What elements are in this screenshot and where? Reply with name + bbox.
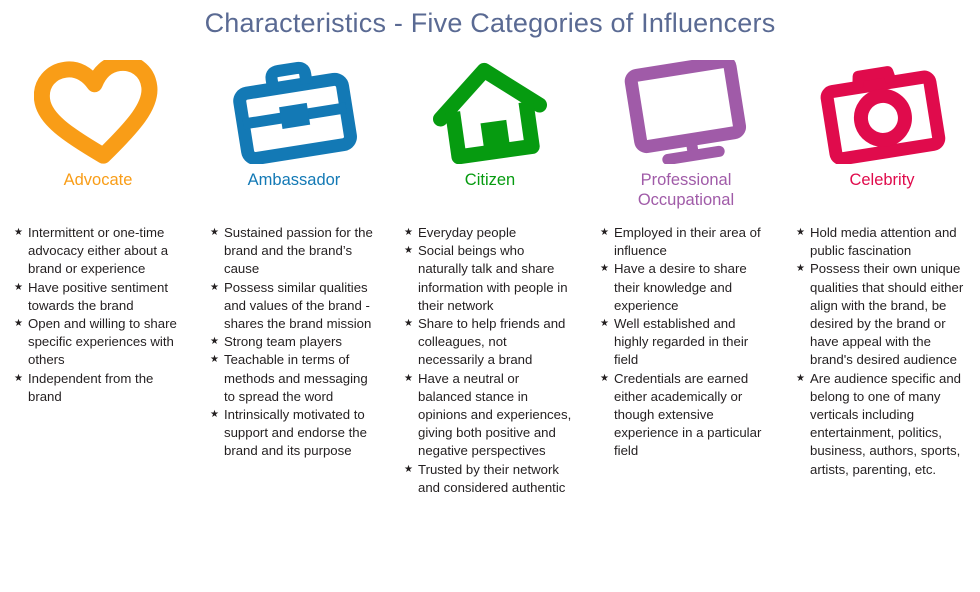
star-bullet-icon: ★ [600, 370, 609, 388]
list-item: ★Strong team players [210, 333, 378, 351]
list-item-text: Have a neutral or balanced stance in opi… [418, 371, 571, 459]
list-item: ★Possess similar qualities and values of… [210, 279, 378, 334]
category-label-line1: Celebrity [849, 171, 914, 189]
list-item-text: Well established and highly regarded in … [614, 316, 748, 367]
bullet-list-professional-occupational: ★Employed in their area of influence ★Ha… [600, 224, 768, 461]
list-item: ★Sustained passion for the brand and the… [210, 224, 378, 279]
house-icon [415, 58, 565, 166]
list-item-text: Independent from the brand [28, 371, 153, 404]
list-item-text: Share to help friends and colleagues, no… [418, 316, 565, 367]
list-item: ★Possess their own unique qualities that… [796, 260, 964, 369]
list-item: ★Intermittent or one-time advocacy eithe… [14, 224, 182, 279]
star-bullet-icon: ★ [404, 370, 413, 388]
star-bullet-icon: ★ [404, 242, 413, 260]
bullet-list-advocate: ★Intermittent or one-time advocacy eithe… [14, 224, 182, 406]
list-item: ★Hold media attention and public fascina… [796, 224, 964, 260]
star-bullet-icon: ★ [210, 224, 219, 242]
star-bullet-icon: ★ [14, 315, 23, 333]
list-item-text: Open and willing to share specific exper… [28, 316, 177, 367]
bullet-list-celebrity: ★Hold media attention and public fascina… [796, 224, 964, 479]
star-bullet-icon: ★ [14, 224, 23, 242]
heart-icon [23, 58, 173, 166]
star-bullet-icon: ★ [600, 260, 609, 278]
category-column-advocate: Advocate ★Intermittent or one-time advoc… [0, 58, 196, 592]
list-item: ★Open and willing to share specific expe… [14, 315, 182, 370]
list-item-text: Strong team players [224, 334, 342, 349]
star-bullet-icon: ★ [14, 279, 23, 297]
category-label-advocate: Advocate [8, 170, 188, 218]
list-item: ★Employed in their area of influence [600, 224, 768, 260]
star-bullet-icon: ★ [210, 279, 219, 297]
star-bullet-icon: ★ [796, 260, 805, 278]
camera-icon [807, 58, 957, 166]
list-item: ★Everyday people [404, 224, 572, 242]
list-item-text: Are audience specific and belong to one … [810, 371, 961, 477]
list-item-text: Teachable in terms of methods and messag… [224, 352, 368, 403]
list-item: ★Well established and highly regarded in… [600, 315, 768, 370]
briefcase-icon [219, 58, 369, 166]
list-item-text: Intrinsically motivated to support and e… [224, 407, 367, 458]
bullet-list-citizen: ★Everyday people ★Social beings who natu… [404, 224, 572, 497]
category-label-celebrity: Celebrity [792, 170, 972, 218]
category-label-line1: Ambassador [248, 171, 341, 189]
category-column-citizen: Citizen ★Everyday people ★Social beings … [392, 58, 588, 592]
list-item-text: Hold media attention and public fascinat… [810, 225, 957, 258]
list-item: ★Trusted by their network and considered… [404, 461, 572, 497]
star-bullet-icon: ★ [404, 224, 413, 242]
list-item: ★Are audience specific and belong to one… [796, 370, 964, 479]
star-bullet-icon: ★ [404, 315, 413, 333]
star-bullet-icon: ★ [796, 370, 805, 388]
bullet-list-ambassador: ★Sustained passion for the brand and the… [210, 224, 378, 461]
list-item: ★Intrinsically motivated to support and … [210, 406, 378, 461]
monitor-icon [611, 58, 761, 166]
list-item-text: Have positive sentiment towards the bran… [28, 280, 168, 313]
list-item-text: Intermittent or one-time advocacy either… [28, 225, 168, 276]
star-bullet-icon: ★ [600, 224, 609, 242]
star-bullet-icon: ★ [796, 224, 805, 242]
list-item: ★Have a desire to share their knowledge … [600, 260, 768, 315]
star-bullet-icon: ★ [404, 461, 413, 479]
star-bullet-icon: ★ [210, 333, 219, 351]
category-column-ambassador: Ambassador ★Sustained passion for the br… [196, 58, 392, 592]
list-item-text: Possess similar qualities and values of … [224, 280, 371, 331]
category-label-citizen: Citizen [400, 170, 580, 218]
list-item: ★Social beings who naturally talk and sh… [404, 242, 572, 315]
list-item: ★Credentials are earned either academica… [600, 370, 768, 461]
list-item-text: Possess their own unique qualities that … [810, 261, 963, 367]
list-item-text: Social beings who naturally talk and sha… [418, 243, 568, 313]
list-item-text: Credentials are earned either academical… [614, 371, 761, 459]
list-item-text: Have a desire to share their knowledge a… [614, 261, 747, 312]
list-item: ★Teachable in terms of methods and messa… [210, 351, 378, 406]
list-item-text: Sustained passion for the brand and the … [224, 225, 373, 276]
category-column-professional-occupational: Professional Occupational ★Employed in t… [588, 58, 784, 592]
category-label-line2: Occupational [596, 190, 776, 210]
star-bullet-icon: ★ [210, 406, 219, 424]
list-item: ★Independent from the brand [14, 370, 182, 406]
category-label-line1: Citizen [465, 171, 515, 189]
category-label-line1: Professional [641, 171, 732, 189]
list-item-text: Employed in their area of influence [614, 225, 761, 258]
list-item: ★Have a neutral or balanced stance in op… [404, 370, 572, 461]
list-item-text: Trusted by their network and considered … [418, 462, 565, 495]
infographic-canvas: Characteristics - Five Categories of Inf… [0, 0, 980, 592]
list-item: ★Have positive sentiment towards the bra… [14, 279, 182, 315]
category-label-professional-occupational: Professional Occupational [596, 170, 776, 218]
star-bullet-icon: ★ [210, 351, 219, 369]
page-title: Characteristics - Five Categories of Inf… [0, 8, 980, 39]
category-columns: Advocate ★Intermittent or one-time advoc… [0, 58, 980, 592]
list-item: ★Share to help friends and colleagues, n… [404, 315, 572, 370]
list-item-text: Everyday people [418, 225, 516, 240]
star-bullet-icon: ★ [14, 370, 23, 388]
category-label-line1: Advocate [64, 171, 133, 189]
star-bullet-icon: ★ [600, 315, 609, 333]
category-label-ambassador: Ambassador [204, 170, 384, 218]
category-column-celebrity: Celebrity ★Hold media attention and publ… [784, 58, 980, 592]
